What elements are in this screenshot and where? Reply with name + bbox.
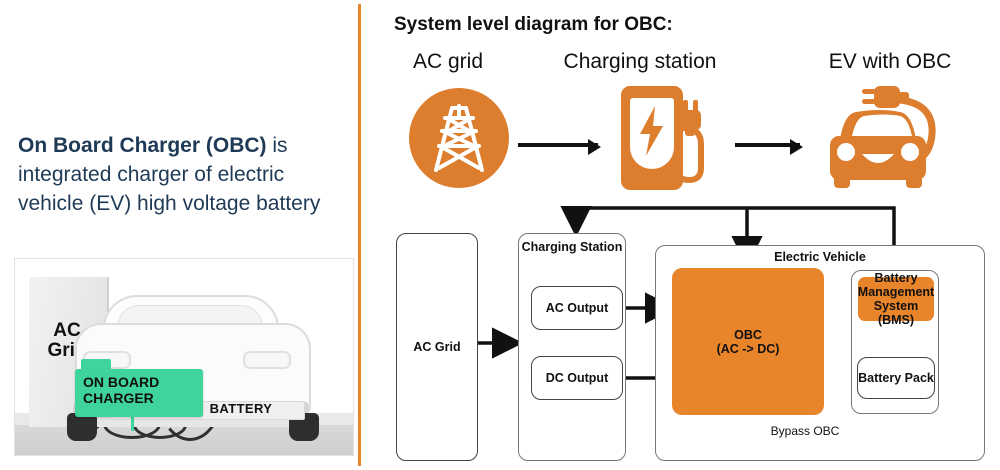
car-taillight-right [243,351,291,369]
block-bms[interactable]: Battery Management System (BMS) [858,277,934,321]
onboard-charger-callout-line2: CHARGER [83,391,203,407]
ev-car-plug-icon [818,78,963,201]
block-bms-label-line2: Management [858,285,934,299]
flow-arrow-1-icon [518,143,598,147]
block-charging-station-label: Charging Station [518,240,626,254]
block-dc-output-label: DC Output [546,371,608,385]
obc-description-bold: On Board Charger (OBC) [18,134,267,157]
block-obc-label-line1: OBC [734,328,762,342]
block-obc[interactable]: OBC (AC -> DC) [672,268,824,415]
block-charging-station-container[interactable] [518,233,626,461]
block-obc-label-line2: (AC -> DC) [717,342,780,356]
block-bms-label-line1: Battery [874,271,917,285]
page-title: System level diagram for OBC: [394,14,673,36]
charging-station-icon [615,82,725,199]
block-ac-grid[interactable]: AC Grid [396,233,478,461]
flow-label-ac-grid: AC grid [378,50,518,74]
car-wheel-left [67,413,97,441]
obc-description-paragraph: On Board Charger (OBC) is integrated cha… [18,132,348,219]
onboard-charger-stem [131,415,134,431]
flow-arrow-2-icon [735,143,800,147]
block-bms-label-line3: System (BMS) [858,299,934,327]
block-ac-output-label: AC Output [546,301,608,315]
transmission-tower-icon [409,88,509,193]
block-battery-pack-label: Battery Pack [858,371,934,385]
ev-car-illustration: BATTERY ON BOARD CHARGER [57,289,325,439]
bypass-obc-label: Bypass OBC [730,424,880,438]
block-electric-vehicle-label: Electric Vehicle [700,250,940,264]
block-ac-grid-label: AC Grid [413,340,460,354]
flow-label-charging-station: Charging station [540,50,740,74]
slide-root: On Board Charger (OBC) is integrated cha… [0,0,1000,470]
block-dc-output[interactable]: DC Output [531,356,623,400]
flow-label-ev-with-obc: EV with OBC [780,50,1000,74]
onboard-charger-callout: ON BOARD CHARGER [75,369,203,417]
block-battery-pack[interactable]: Battery Pack [857,357,935,399]
panel-divider [358,4,361,466]
block-ac-output[interactable]: AC Output [531,286,623,330]
ev-charging-photo: AC Grid BATTERY ON BOARD CHAR [14,258,354,456]
onboard-charger-callout-line1: ON BOARD [83,375,203,391]
